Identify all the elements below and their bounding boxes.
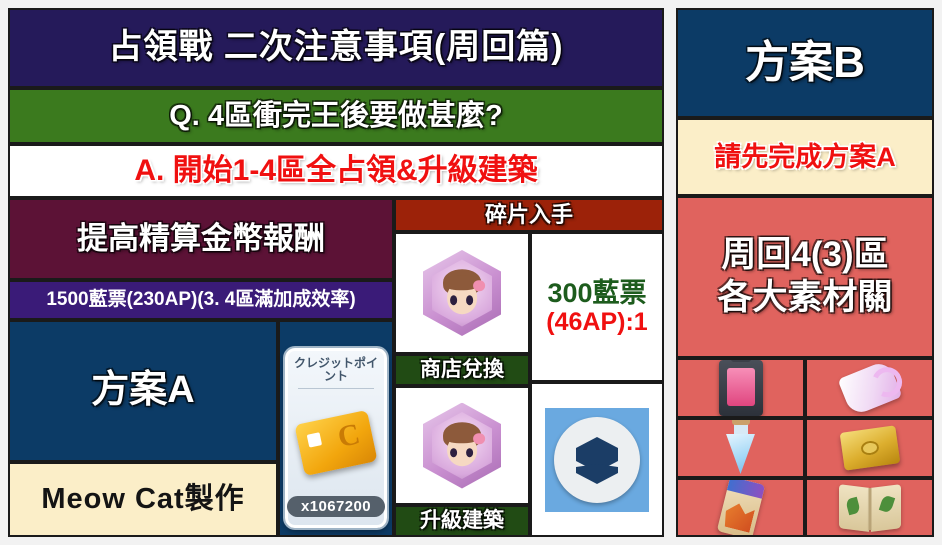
shard-image-upgrade [394,386,530,505]
farm-instruction: 周回4(3)區 各大素材關 [676,196,934,358]
hexagon-layers-glyph [568,431,626,489]
character-shard-hex-icon [423,403,501,489]
material-cell [805,478,934,537]
question-banner: Q. 4區衝完王後要做甚麼? [8,88,664,144]
blue-water-potion-icon [678,420,803,476]
price-line-2: (46AP):1 [546,309,647,335]
material-cell [676,418,805,478]
fragment-banner: 碎片入手 [394,198,664,232]
fragment-price-cell: 300藍票 (46AP):1 [530,232,664,382]
reward-detail: 1500藍票(230AP)(3. 4區滿加成效率) [8,280,394,320]
title-banner: 占領戰 二次注意事項(周回篇) [8,8,664,88]
app-icon-cell [530,382,664,537]
material-cell [805,418,934,478]
plan-b-note: 請先完成方案A [676,118,934,196]
farm-line-2: 各大素材關 [717,280,892,317]
price-line-1: 300藍票 [547,279,646,307]
pink-ribbon-tape-icon [807,360,932,416]
character-shard-hex-icon [423,250,501,336]
farm-line-1: 周回4(3)區 [721,237,888,274]
material-cell [676,358,805,418]
green-herb-book-icon [807,480,932,535]
gold-ingot-icon [807,420,932,476]
credit-card-divider [298,388,374,389]
material-cell [805,358,934,418]
reward-banner: 提高精算金幣報酬 [8,198,394,280]
infographic-canvas: 占領戰 二次注意事項(周回篇) Q. 4區衝完王後要做甚麼? A. 開始1-4區… [0,0,942,545]
credit-point-card: クレジットポイント C x1067200 [285,348,387,528]
shop-exchange-label: 商店兌換 [394,354,530,386]
hexagon-layers-app-icon [545,408,649,512]
plan-a-title: 方案A [8,320,278,462]
plan-b-title: 方案B [676,8,934,118]
pink-crystal-lantern-icon [678,360,803,416]
credit-card-title: クレジットポイント [292,357,380,384]
answer-banner: A. 開始1-4區全占領&升級建築 [8,144,664,198]
app-icon-disc [554,417,640,503]
reward-banner-label: 提高精算金幣報酬 [77,223,325,256]
credit-card-quantity: x1067200 [287,496,385,517]
fire-torch-scroll-icon [678,480,803,535]
upgrade-build-label: 升級建築 [394,505,530,537]
gold-credit-card-icon: C [294,410,377,476]
material-cell [676,478,805,537]
credit-card-art: C [292,391,380,496]
shard-image-shop [394,232,530,354]
author-credit: Meow Cat製作 [8,462,278,537]
